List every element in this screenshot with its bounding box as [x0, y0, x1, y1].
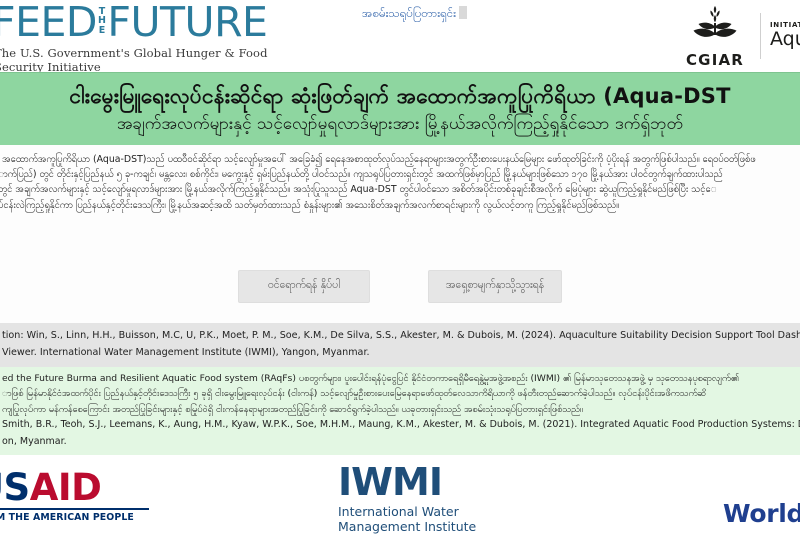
title-banner: ငါးမွေးမြူရေးလုပ်ငန်းဆိုင်ရာ ဆုံးဖြတ်ချက…	[0, 72, 800, 145]
iwmi-acronym: IWMI	[338, 463, 476, 501]
usaid-wordmark: USAID	[0, 469, 149, 506]
cgiar-initiative-name: Aquatic	[770, 29, 800, 51]
acknowledgement-line: ed the Future Burma and Resilient Aquati…	[0, 371, 800, 386]
page-title: ငါးမွေးမြူရေးလုပ်ငန်းဆိုင်ရာ ဆုံးဖြတ်ချက…	[69, 83, 730, 109]
cgiar-mark: CGIAR	[672, 4, 758, 69]
feed-the-future-tagline: The U.S. Government's Global Hunger & Fo…	[0, 46, 292, 72]
next-page-button[interactable]: အရှေ့စာမျက်နှာသို့သွားရန်	[428, 270, 562, 303]
iwmi-name: International Water Management Institute	[338, 504, 476, 534]
the-stacked-text: T H E	[98, 7, 106, 38]
iwmi-name-line2: Management Institute	[338, 519, 476, 534]
cgiar-wheat-icon	[688, 4, 742, 50]
citation-section: tion: Win, S., Linn, H.H., Buisson, M.C,…	[0, 323, 800, 367]
description-line: ပ်ငန်းလဲကြည့်ရှုနိုင်ကာ ပြည်နယ်နှင့်တိုင…	[0, 198, 800, 213]
the-letter-e: E	[99, 26, 106, 35]
login-button[interactable]: ဝင်ရောက်ရန် နှိပ်ပါ	[238, 270, 370, 303]
top-logo-bar: FEED T H E FUTURE The U.S. Government's …	[0, 0, 800, 72]
iwmi-logo: IWMI International Water Management Inst…	[338, 463, 476, 534]
description-line: အထောက်အကူပြုကိရိယာ (Aqua-DST)သည် ပထဝီဝင်…	[0, 152, 800, 167]
action-button-row: ဝင်ရောက်ရန် နှိပ်ပါ အရှေ့စာမျက်နှာသို့သွ…	[0, 256, 800, 323]
citation-line: tion: Win, S., Linn, H.H., Buisson, M.C,…	[0, 328, 800, 345]
usaid-tagline: FROM THE AMERICAN PEOPLE	[0, 512, 149, 523]
cgiar-initiative: INITIATIVE ON Aquatic	[770, 21, 800, 51]
usaid-us-text: US	[0, 466, 30, 509]
acknowledgement-line: ကျပြုလုပ်ကာ မန်ကန်စေကြောင်း အတည်ပြုခြင်း…	[0, 402, 800, 417]
page-root: FEED T H E FUTURE The U.S. Government's …	[0, 0, 800, 550]
worldfish-logo: World	[723, 499, 800, 528]
description-section: အထောက်အကူပြုကိရိယာ (Aqua-DST)သည် ပထဝီဝင်…	[0, 145, 800, 256]
page-subtitle: အချက်အလက်များနှင့် သင့်လျော်မှုရလာဒ်များ…	[117, 113, 683, 135]
description-line: ာက်ပြည်) တွင် တိုင်းနှင့်ပြည်နယ် ၅ ခု-ကခ…	[0, 167, 800, 182]
cgiar-divider	[760, 13, 761, 59]
cgiar-logo: CGIAR INITIATIVE ON Aquatic	[672, 2, 800, 70]
feed-the-future-logo: FEED T H E FUTURE The U.S. Government's …	[0, 2, 292, 72]
acknowledgement-section: ed the Future Burma and Resilient Aquati…	[0, 367, 800, 455]
text-cursor-icon	[459, 6, 467, 19]
usaid-logo: USAID FROM THE AMERICAN PEOPLE	[0, 469, 149, 523]
feed-the-future-wordmark: FEED T H E FUTURE	[0, 2, 292, 43]
description-line: တွင် အချက်အလက်များနှင့် သင့်လျော်မှုရလာဒ…	[0, 182, 800, 197]
demo-version-text: အစမ်းသရုပ်ပြတားရှင်း	[362, 6, 456, 20]
usaid-aid-text: AID	[30, 466, 102, 509]
citation-line: Viewer. International Water Management I…	[0, 345, 800, 362]
secondary-citation-line: Smith, B.R., Teoh, S.J., Leemans, K., Au…	[0, 417, 800, 433]
iwmi-name-line1: International Water	[338, 504, 476, 519]
acknowledgement-line: ာဖြစ် မြန်မာနိုင်ငံအထက်ပိုင်း ပြည်နယ်နှင…	[0, 386, 800, 401]
feed-text: FEED	[0, 2, 97, 43]
future-text: FUTURE	[107, 2, 267, 43]
cgiar-name: CGIAR	[686, 51, 744, 69]
footer-logo-bar: USAID FROM THE AMERICAN PEOPLE IWMI Inte…	[0, 455, 800, 541]
secondary-citation-line: on, Myanmar.	[0, 434, 800, 450]
demo-version-label: အစမ်းသရုပ်ပြတားရှင်း	[362, 6, 467, 23]
